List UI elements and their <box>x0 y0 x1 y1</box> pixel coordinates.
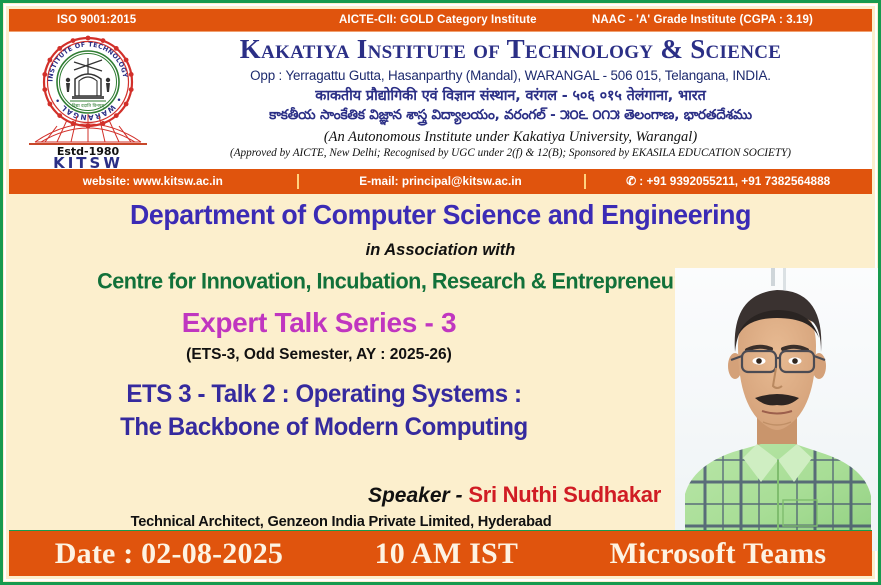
event-date: Date : 02-08-2025 <box>55 537 283 571</box>
event-details-bar: Date : 02-08-2025 10 AM IST Microsoft Te… <box>9 530 872 576</box>
institute-address-telugu: కాకతీయ సాంకేతిక విజ్ఞాన శాస్త్ర విద్యాలయ… <box>155 107 866 126</box>
series-subtitle: (ETS-3, Odd Semester, AY : 2025-26) <box>9 346 629 364</box>
speaker-photo <box>675 268 880 551</box>
speaker-label: Speaker - <box>368 484 468 507</box>
speaker-designation: Technical Architect, Genzeon India Priva… <box>9 514 673 530</box>
institute-name: Kakatiya Institute of Technology & Scien… <box>155 35 866 65</box>
approval-note: (Approved by AICTE, New Delhi; Recognise… <box>155 147 866 159</box>
institute-text-block: Kakatiya Institute of Technology & Scien… <box>155 34 866 159</box>
contact-bar: website: www.kitsw.ac.in E-mail: princip… <box>9 169 872 194</box>
department-title: Department of Computer Science and Engin… <box>22 199 859 231</box>
institute-address-english: Opp : Yerragattu Gutta, Hasanparthy (Man… <box>155 68 866 83</box>
phone-numbers: ✆ : +91 9392055211, +91 7382564888 <box>584 176 872 188</box>
kitsw-logo: KAKATIYA INSTITUTE OF TECHNOLOGY & SCIEN… <box>27 34 149 169</box>
accreditation-bar: ISO 9001:2015 AICTE-CII: GOLD Category I… <box>9 9 872 32</box>
kitsw-seal-icon: KAKATIYA INSTITUTE OF TECHNOLOGY & SCIEN… <box>27 34 149 169</box>
website-link[interactable]: website: www.kitsw.ac.in <box>9 176 297 188</box>
svg-text:KITSW: KITSW <box>53 154 123 169</box>
autonomous-status-note: (An Autonomous Institute under Kakatiya … <box>155 129 866 146</box>
centre-name-prefix: Centre for Innovation, Incubation, Resea… <box>97 269 742 294</box>
series-title: Expert Talk Series - 3 <box>9 307 629 339</box>
talk-title-line-1: ETS 3 - Talk 2 : Operating Systems : <box>22 380 627 409</box>
naac-grade-text: NAAC - 'A' Grade Institute (CGPA : 3.19) <box>592 14 813 26</box>
institute-address-hindi: काकतीय प्रौद्योगिकी एवं विज्ञान संस्थान,… <box>155 86 866 105</box>
poster-body: Department of Computer Science and Engin… <box>9 194 872 530</box>
svg-text:विद्या ददाति विनयम्: विद्या ददाति विनयम् <box>72 102 105 109</box>
talk-title-line-2: The Backbone of Modern Computing <box>22 413 627 442</box>
speaker-line: Speaker - Sri Nuthi Sudhakar <box>9 482 673 508</box>
iso-certification-text: ISO 9001:2015 <box>57 14 136 26</box>
association-label: in Association with <box>9 241 872 260</box>
speaker-portrait-icon <box>675 268 880 551</box>
event-platform: Microsoft Teams <box>610 537 827 571</box>
event-time: 10 AM IST <box>375 537 519 571</box>
speaker-name: Sri Nuthi Sudhakar <box>468 482 661 507</box>
email-link[interactable]: E-mail: principal@kitsw.ac.in <box>297 176 585 188</box>
event-poster: ISO 9001:2015 AICTE-CII: GOLD Category I… <box>0 0 881 585</box>
institute-letterhead: KAKATIYA INSTITUTE OF TECHNOLOGY & SCIEN… <box>9 32 872 169</box>
aicte-category-text: AICTE-CII: GOLD Category Institute <box>339 14 537 26</box>
